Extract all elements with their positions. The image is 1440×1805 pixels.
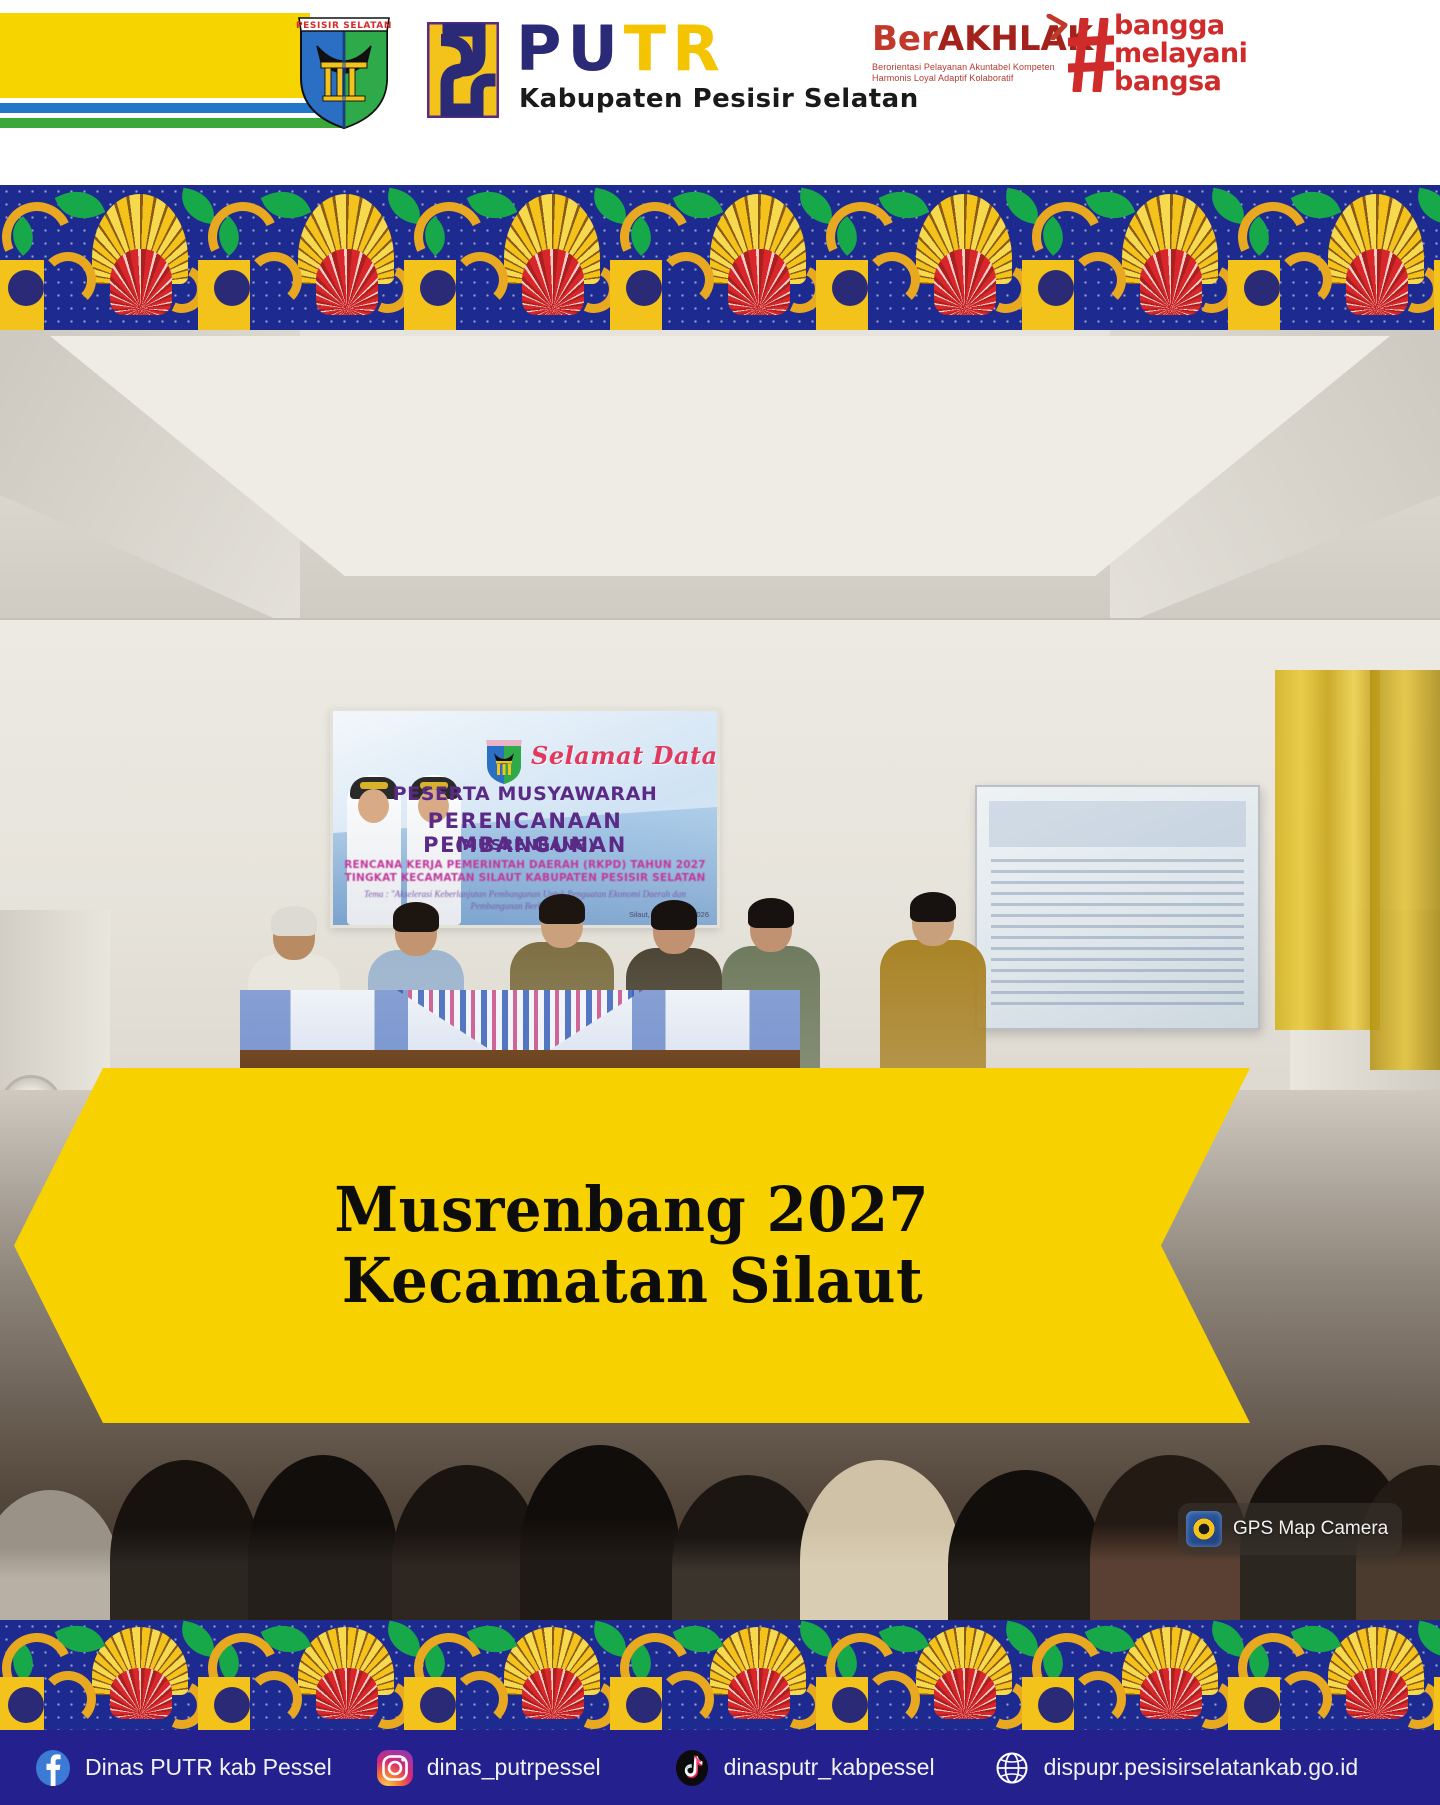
bangga-melayani-bangsa-logo: bangga melayani bangsa bbox=[1068, 8, 1248, 108]
batik-tile bbox=[618, 185, 824, 330]
footer-item-instagram[interactable]: dinas_putrpessel bbox=[376, 1749, 601, 1787]
batik-tile bbox=[1030, 185, 1236, 330]
ribbon-title-line-2: Kecamatan Silaut bbox=[341, 1246, 922, 1317]
batik-swirl-motif bbox=[246, 252, 302, 308]
putr-tr-text: TR bbox=[624, 12, 726, 85]
batik-swirl-motif bbox=[1070, 252, 1126, 308]
batik-square-inner bbox=[832, 1687, 868, 1723]
batik-swirl-motif bbox=[658, 252, 714, 308]
projector-screen-header bbox=[989, 801, 1246, 847]
batik-square-motif bbox=[1434, 260, 1440, 330]
footer-label-tiktok: dinasputr_kabpessel bbox=[724, 1754, 935, 1781]
batik-square-inner bbox=[8, 1687, 44, 1723]
batik-square-motif bbox=[0, 1677, 44, 1730]
batik-swirl-motif bbox=[1070, 1671, 1126, 1727]
putr-wordmark: PUTR bbox=[516, 18, 726, 80]
batik-swirl-motif bbox=[1276, 1671, 1332, 1727]
batik-square-motif bbox=[816, 1677, 868, 1730]
footer-item-tiktok[interactable]: dinasputr_kabpessel bbox=[673, 1749, 935, 1787]
instagram-icon bbox=[376, 1749, 414, 1787]
title-ribbon: Musrenbang 2027 Kecamatan Silaut bbox=[14, 1068, 1250, 1423]
panelist-hair bbox=[539, 894, 585, 924]
batik-square-motif bbox=[0, 260, 44, 330]
batik-leaf-motif bbox=[1413, 187, 1440, 224]
batik-square-inner bbox=[1244, 270, 1280, 306]
batik-square-inner bbox=[1038, 270, 1074, 306]
batik-swirl-motif bbox=[1276, 252, 1332, 308]
putr-pu-text: PU bbox=[516, 12, 624, 85]
batik-tile bbox=[824, 1620, 1030, 1730]
projector-screen-content bbox=[991, 859, 1244, 1008]
batik-swirl-motif bbox=[658, 1671, 714, 1727]
globe-icon bbox=[993, 1749, 1031, 1787]
pesisir-selatan-crest-icon: PESISIR SELATAN bbox=[295, 12, 393, 130]
batik-square-inner bbox=[832, 270, 868, 306]
pu-logo-icon bbox=[427, 22, 499, 118]
banner-crest-icon bbox=[485, 739, 523, 785]
facebook-icon bbox=[34, 1749, 72, 1787]
svg-text:PESISIR SELATAN: PESISIR SELATAN bbox=[296, 21, 392, 31]
batik-square-motif bbox=[1434, 1677, 1440, 1730]
batik-square-inner bbox=[214, 1687, 250, 1723]
batik-square-motif bbox=[816, 260, 868, 330]
footer-label-facebook: Dinas PUTR kab Pessel bbox=[85, 1754, 332, 1781]
footer-item-website[interactable]: dispupr.pesisirselatankab.go.id bbox=[993, 1749, 1359, 1787]
berakhlak-wordmark: BerAKHLAK bbox=[872, 22, 1052, 56]
batik-tile bbox=[412, 185, 618, 330]
footer-item-facebook[interactable]: Dinas PUTR kab Pessel bbox=[34, 1749, 332, 1787]
footer-label-instagram: dinas_putrpessel bbox=[427, 1754, 601, 1781]
batik-tile bbox=[1030, 1620, 1236, 1730]
batik-border-bottom bbox=[0, 1620, 1440, 1730]
batik-square-motif bbox=[198, 260, 250, 330]
batik-square-inner bbox=[626, 270, 662, 306]
batik-tile bbox=[824, 185, 1030, 330]
batik-square-motif bbox=[198, 1677, 250, 1730]
header-bar: PESISIR SELATAN PUTR Kabupaten Pesisir S… bbox=[0, 0, 1440, 185]
batik-square-motif bbox=[1022, 260, 1074, 330]
batik-tile bbox=[206, 185, 412, 330]
berakhlak-tagline-line1: Berorientasi Pelayanan Akuntabel Kompete… bbox=[872, 62, 1052, 73]
batik-square-inner bbox=[420, 270, 456, 306]
header-green-stripe bbox=[0, 118, 342, 128]
batik-square-motif bbox=[610, 260, 662, 330]
batik-square-motif bbox=[404, 1677, 456, 1730]
photo-curtain-right bbox=[1370, 670, 1440, 1070]
event-photo: Selamat Datang PESERTA MUSYAWARAH PERENC… bbox=[0, 330, 1440, 1630]
batik-swirl-motif bbox=[452, 252, 508, 308]
table-cloth bbox=[240, 990, 800, 1050]
footer-label-website: dispupr.pesisirselatankab.go.id bbox=[1044, 1754, 1359, 1781]
photo-ceiling bbox=[0, 330, 1440, 630]
batik-square-motif bbox=[1022, 1677, 1074, 1730]
batik-tile bbox=[1236, 1620, 1440, 1730]
berakhlak-logo: BerAKHLAK Berorientasi Pelayanan Akuntab… bbox=[872, 22, 1052, 94]
batik-tile bbox=[0, 185, 206, 330]
berakhlak-tagline-line2: Harmonis Loyal Adaptif Kolaboratif bbox=[872, 73, 1052, 84]
gps-watermark-label: GPS Map Camera bbox=[1233, 1518, 1388, 1540]
banner-line-1: PESERTA MUSYAWARAH bbox=[333, 783, 717, 805]
hashtag-icon bbox=[1068, 18, 1114, 92]
batik-tile bbox=[206, 1620, 412, 1730]
panelist bbox=[880, 940, 986, 1072]
batik-square-motif bbox=[404, 260, 456, 330]
batik-swirl-motif bbox=[452, 1671, 508, 1727]
batik-swirl-motif bbox=[40, 1671, 96, 1727]
bangga-line-1: bangga bbox=[1114, 12, 1247, 40]
tiktok-icon bbox=[673, 1749, 711, 1787]
header-blue-stripe bbox=[0, 103, 342, 113]
banner-line-5: TINGKAT KECAMATAN SILAUT KABUPATEN PESIS… bbox=[333, 872, 717, 884]
gps-map-camera-watermark: GPS Map Camera bbox=[1178, 1503, 1402, 1555]
berakhlak-arrow-icon bbox=[1046, 14, 1068, 40]
social-footer: Dinas PUTR kab Pessel dinas_putrpesse bbox=[0, 1730, 1440, 1805]
batik-square-inner bbox=[626, 1687, 662, 1723]
audience-member bbox=[800, 1460, 960, 1630]
batik-swirl-motif bbox=[864, 1671, 920, 1727]
batik-square-motif bbox=[1228, 260, 1280, 330]
audience-member bbox=[248, 1455, 398, 1630]
batik-swirl-motif bbox=[40, 252, 96, 308]
projector-screen bbox=[975, 785, 1260, 1030]
batik-square-inner bbox=[214, 270, 250, 306]
panel-table bbox=[240, 990, 800, 1070]
batik-swirl-motif bbox=[864, 252, 920, 308]
batik-square-inner bbox=[8, 270, 44, 306]
panelist-hair bbox=[910, 892, 956, 922]
panelist-hair bbox=[271, 906, 317, 936]
bangga-line-3: bangsa bbox=[1114, 68, 1247, 96]
audience-member bbox=[0, 1490, 120, 1630]
banner-line-3: (MUSRENBANG) bbox=[333, 836, 717, 854]
panelist-hair bbox=[651, 900, 697, 930]
berakhlak-ber-text: Ber bbox=[872, 19, 938, 59]
batik-tile bbox=[0, 1620, 206, 1730]
panelist-hair bbox=[748, 898, 794, 928]
batik-square-motif bbox=[1228, 1677, 1280, 1730]
banner-selamat-datang: Selamat Datang bbox=[531, 741, 711, 770]
audience-member bbox=[520, 1445, 680, 1630]
banner-line-4: RENCANA KERJA PEMERINTAH DAERAH (RKPD) T… bbox=[333, 859, 717, 871]
batik-square-inner bbox=[1038, 1687, 1074, 1723]
welcome-banner: Selamat Datang PESERTA MUSYAWARAH PERENC… bbox=[330, 708, 720, 928]
photo-curtain-left bbox=[1275, 670, 1380, 1030]
batik-tile bbox=[1236, 185, 1440, 330]
batik-square-inner bbox=[1244, 1687, 1280, 1723]
gps-icon-ring bbox=[1193, 1518, 1215, 1540]
batik-border-top bbox=[0, 185, 1440, 330]
bangga-line-2: melayani bbox=[1114, 40, 1247, 68]
ribbon-title-line-1: Musrenbang 2027 bbox=[335, 1175, 930, 1246]
batik-square-motif bbox=[610, 1677, 662, 1730]
gps-map-camera-icon bbox=[1186, 1511, 1222, 1547]
batik-swirl-motif bbox=[246, 1671, 302, 1727]
header-yellow-block bbox=[0, 13, 310, 98]
batik-tile bbox=[618, 1620, 824, 1730]
putr-subtitle: Kabupaten Pesisir Selatan bbox=[519, 84, 919, 114]
batik-tile bbox=[412, 1620, 618, 1730]
audience-member bbox=[948, 1470, 1103, 1630]
audience-member bbox=[110, 1460, 260, 1630]
panelist-hair bbox=[393, 902, 439, 932]
batik-square-inner bbox=[420, 1687, 456, 1723]
